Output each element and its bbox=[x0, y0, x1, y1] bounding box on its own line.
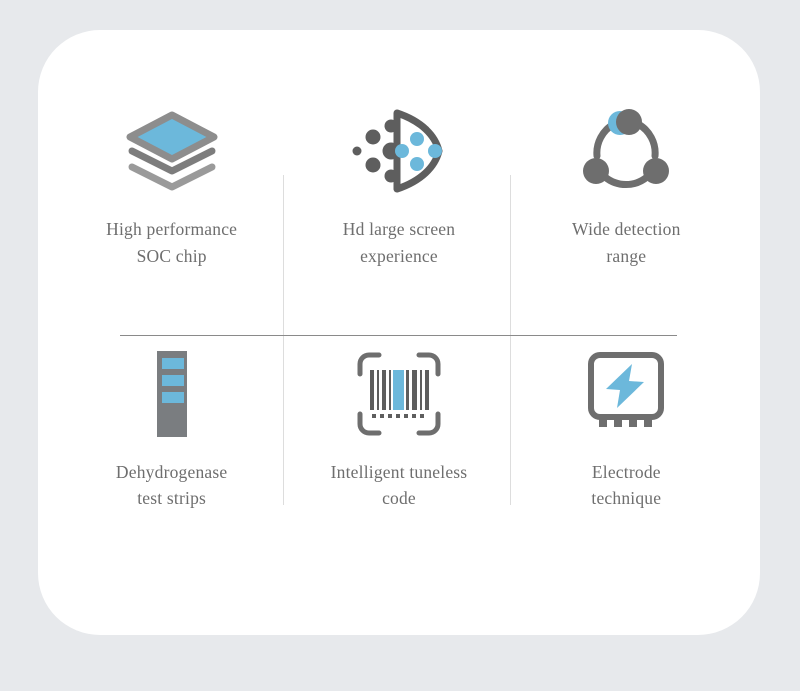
feature-label-line-1: Electrode bbox=[592, 462, 661, 482]
feature-label: Dehydrogenase test strips bbox=[77, 459, 267, 512]
barcode-scan-icon bbox=[357, 335, 441, 453]
layers-icon bbox=[124, 92, 220, 210]
feature-label-line-1: High performance bbox=[106, 219, 237, 239]
feature-label-line-1: Wide detection bbox=[572, 219, 681, 239]
feature-label: High performance SOC chip bbox=[77, 216, 267, 269]
feature-label-line-2: experience bbox=[360, 246, 438, 266]
feature-label: Hd large screen experience bbox=[304, 216, 494, 269]
feature-cell-dehydrogenase-test-strips[interactable]: Dehydrogenase test strips bbox=[58, 335, 285, 578]
horizontal-divider bbox=[120, 335, 677, 336]
feature-label-line-1: Hd large screen bbox=[343, 219, 456, 239]
features-grid: High performance SOC chip bbox=[38, 30, 760, 635]
test-strip-icon bbox=[155, 335, 189, 453]
feature-label: Intelligent tuneless code bbox=[304, 459, 494, 512]
feature-label-line-2: technique bbox=[591, 488, 661, 508]
pixel-resolution-icon bbox=[347, 92, 451, 210]
feature-cell-intelligent-tuneless-code[interactable]: Intelligent tuneless code bbox=[285, 335, 512, 578]
feature-label-line-1: Dehydrogenase bbox=[116, 462, 227, 482]
feature-label-line-2: range bbox=[606, 246, 646, 266]
feature-label: Electrode technique bbox=[531, 459, 721, 512]
feature-cell-electrode-technique[interactable]: Electrode technique bbox=[513, 335, 740, 578]
chip-lightning-icon bbox=[586, 335, 666, 453]
feature-label-line-2: SOC chip bbox=[137, 246, 207, 266]
feature-label-line-2: test strips bbox=[137, 488, 206, 508]
feature-label: Wide detection range bbox=[531, 216, 721, 269]
feature-cell-hd-large-screen-experience[interactable]: Hd large screen experience bbox=[285, 92, 512, 335]
feature-cell-wide-detection-range[interactable]: Wide detection range bbox=[513, 92, 740, 335]
feature-grid-infographic: High performance SOC chip bbox=[0, 0, 800, 691]
feature-label-line-1: Intelligent tuneless bbox=[331, 462, 468, 482]
vertical-divider-1 bbox=[283, 175, 284, 505]
feature-label-line-2: code bbox=[382, 488, 416, 508]
circular-nodes-icon bbox=[581, 92, 671, 210]
vertical-divider-2 bbox=[510, 175, 511, 505]
feature-cell-high-performance-soc-chip[interactable]: High performance SOC chip bbox=[58, 92, 285, 335]
